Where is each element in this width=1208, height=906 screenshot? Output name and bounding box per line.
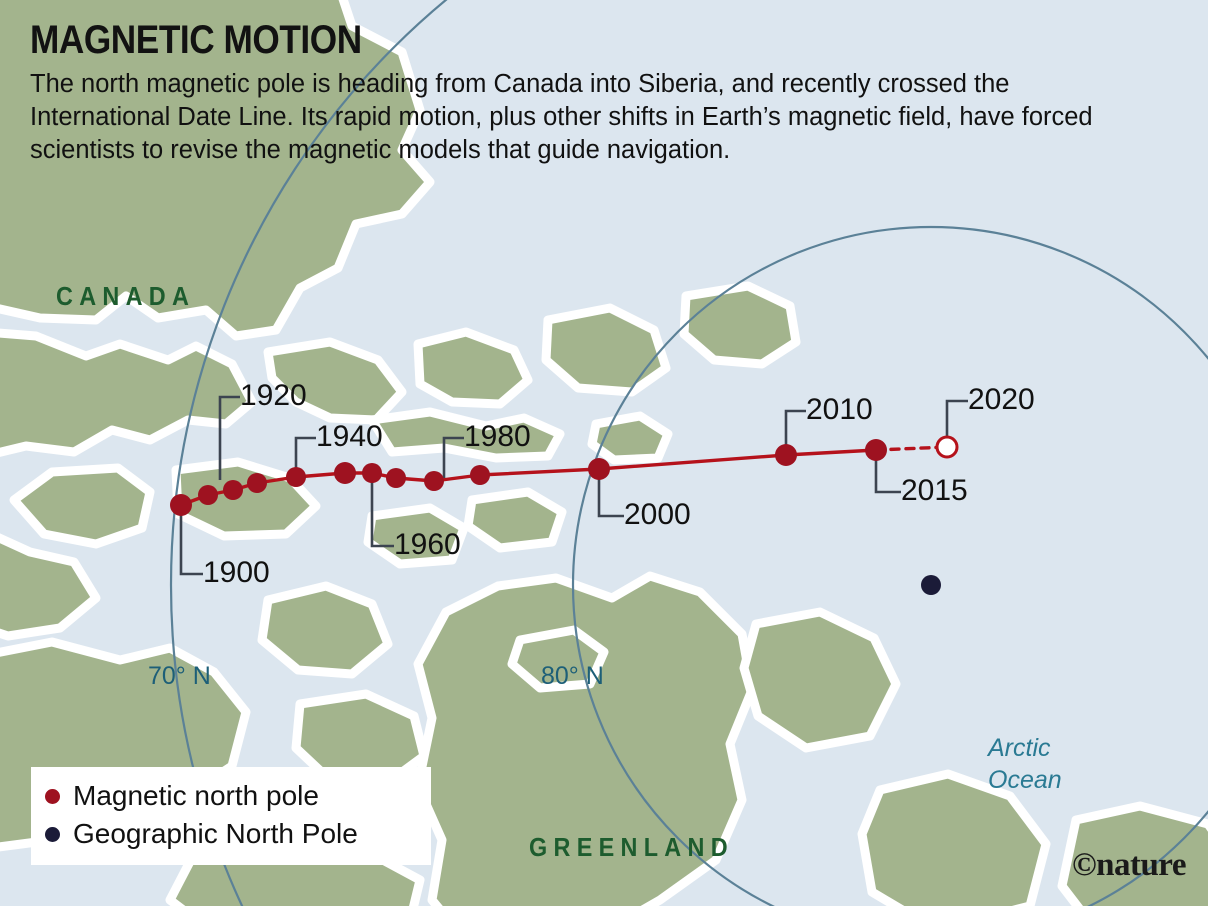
page-title: MAGNETIC MOTION: [30, 18, 1016, 62]
year-label-1920: 1920: [240, 379, 307, 413]
year-label-1940: 1940: [316, 420, 383, 454]
infographic-canvas: MAGNETIC MOTION The north magnetic pole …: [0, 0, 1208, 906]
year-label-2015: 2015: [901, 474, 968, 508]
year-label-2020: 2020: [968, 383, 1035, 417]
legend-item-geographic-north-pole: Geographic North Pole: [45, 815, 431, 853]
marker-2015: [865, 439, 887, 461]
marker-1960: [386, 468, 406, 488]
marker-1940: [334, 462, 356, 484]
year-label-2010: 2010: [806, 393, 873, 427]
land-greenland: [418, 576, 752, 906]
legend-label-geographic: Geographic North Pole: [73, 819, 358, 849]
land-island-q: [512, 630, 604, 688]
marker-1930: [286, 467, 306, 487]
standfirst-text: The north magnetic pole is heading from …: [30, 68, 1135, 167]
legend-swatch-geographic-icon: [45, 827, 60, 842]
marker-1905: [198, 485, 218, 505]
land-island-o: [468, 492, 562, 548]
marker-1920: [247, 473, 267, 493]
year-label-1980: 1980: [464, 420, 531, 454]
header-block: MAGNETIC MOTION The north magnetic pole …: [30, 18, 1150, 167]
land-island-d: [684, 286, 796, 364]
legend-item-magnetic-north-pole: Magnetic north pole: [45, 777, 431, 815]
marker-2020-projected: [937, 437, 957, 457]
marker-2010: [775, 444, 797, 466]
legend-swatch-magnetic-icon: [45, 789, 60, 804]
land-island-h: [262, 586, 388, 674]
marker-1970: [424, 471, 444, 491]
marker-1910: [223, 480, 243, 500]
legend: Magnetic north pole Geographic North Pol…: [31, 767, 431, 865]
year-label-1960: 1960: [394, 528, 461, 562]
marker-1980: [470, 465, 490, 485]
marker-2000: [588, 458, 610, 480]
nature-logo: ©nature: [1072, 847, 1186, 884]
geographic-north-pole-marker: [921, 575, 941, 595]
marker-1900: [170, 494, 192, 516]
year-label-2000: 2000: [624, 498, 691, 532]
marker-1950: [362, 463, 382, 483]
year-label-1900: 1900: [203, 556, 270, 590]
legend-label-magnetic: Magnetic north pole: [73, 781, 319, 811]
